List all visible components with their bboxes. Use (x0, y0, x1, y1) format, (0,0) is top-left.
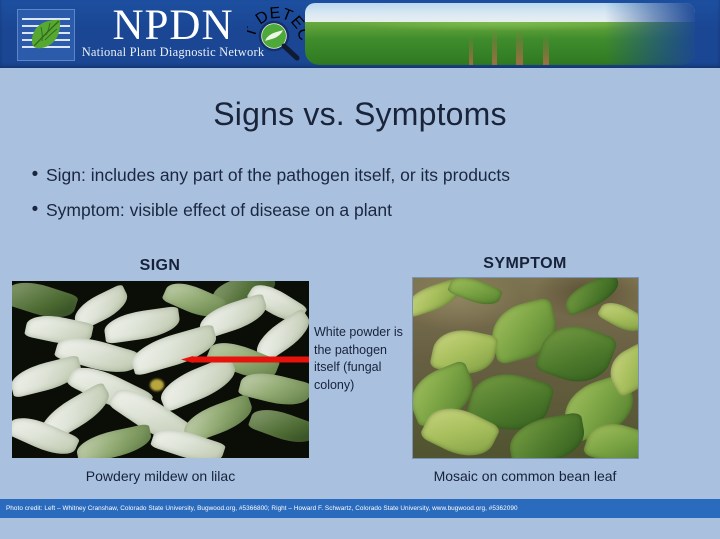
powdery-mildew-photo (12, 281, 309, 458)
page-title: Signs vs. Symptoms (0, 96, 720, 133)
header-banner: NPDN National Plant Diagnostic Network F… (0, 0, 720, 68)
list-item: • Sign: includes any part of the pathoge… (24, 163, 696, 187)
red-arrow-left-icon (181, 350, 309, 357)
slide-bottom-margin (0, 518, 720, 539)
symptom-photo-caption: Mosaic on common bean leaf (408, 468, 642, 484)
mildew-flower-center (150, 379, 164, 391)
sign-photo-caption: Powdery mildew on lilac (12, 468, 309, 484)
annotation-text: White powder is the pathogen itself (fun… (314, 324, 410, 394)
photo-credit-text: Photo credit: Left – Whitney Cranshaw, C… (0, 505, 518, 513)
bullet-marker-icon: • (24, 198, 46, 222)
bullet-marker-icon: • (24, 163, 46, 187)
photo-credit-bar: Photo credit: Left – Whitney Cranshaw, C… (0, 499, 720, 518)
symptom-column-header: SYMPTOM (412, 255, 638, 273)
list-item: • Symptom: visible effect of disease on … (24, 198, 696, 222)
slide-canvas: NPDN National Plant Diagnostic Network F… (0, 0, 720, 539)
bullet-text: Symptom: visible effect of disease on a … (46, 198, 392, 222)
sign-column-header: SIGN (12, 257, 308, 275)
bullet-text: Sign: includes any part of the pathogen … (46, 163, 510, 187)
mosaic-bean-photo (412, 277, 639, 459)
bullet-list: • Sign: includes any part of the pathoge… (24, 163, 696, 233)
